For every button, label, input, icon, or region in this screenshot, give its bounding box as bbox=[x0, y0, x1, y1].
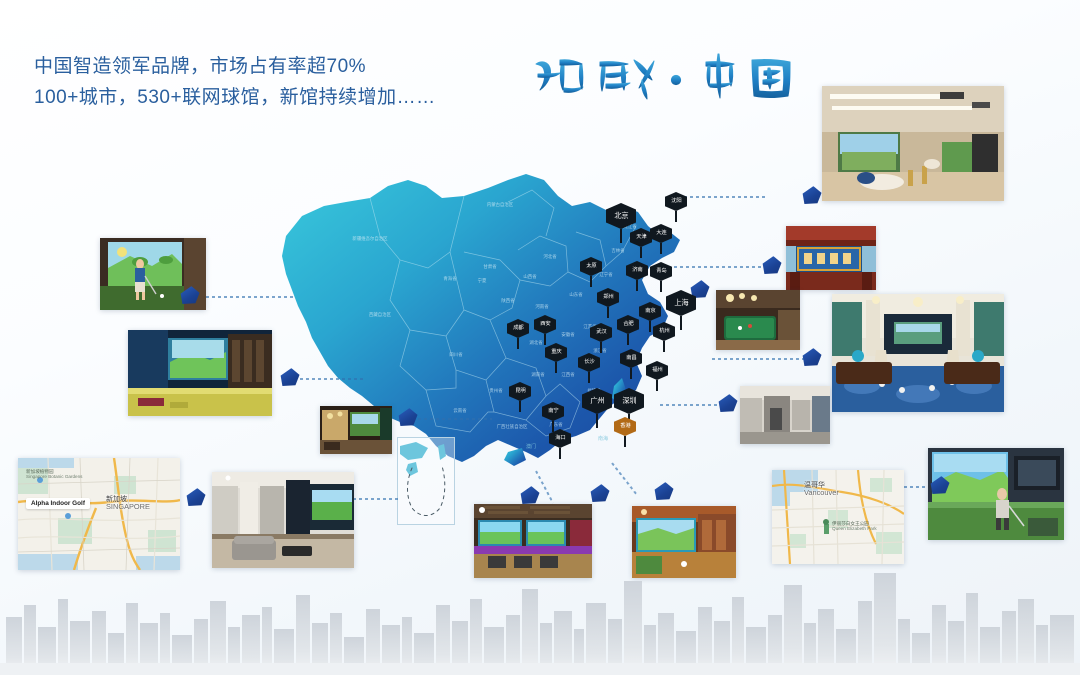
map-pin-武汉[interactable]: 武汉 bbox=[590, 323, 612, 353]
map-pin-label: 重庆 bbox=[551, 350, 561, 355]
map-pin-label: 北京 bbox=[614, 212, 628, 219]
hex-connector bbox=[761, 255, 784, 278]
city-skyline-decoration bbox=[0, 555, 1080, 675]
map-pin-hex-icon: 北京 bbox=[606, 203, 636, 229]
brand-calligraphy-title bbox=[530, 44, 800, 110]
headline-block: 中国智造领军品牌，市场占有率超70% 100+城市，530+联网球馆，新馆持续增… bbox=[34, 52, 436, 114]
map-pin-stem bbox=[590, 276, 591, 287]
svg-text:四川省: 四川省 bbox=[449, 351, 463, 358]
photo-beijing-venue[interactable] bbox=[822, 86, 1004, 201]
photo-blue-hall[interactable] bbox=[128, 330, 272, 416]
map-pin-label: 海口 bbox=[555, 436, 565, 441]
map-pin-hex-icon: 南昌 bbox=[620, 349, 642, 368]
svg-text:南海: 南海 bbox=[598, 435, 608, 442]
photo-temple-sign[interactable] bbox=[786, 226, 876, 290]
map-pin-stem bbox=[624, 436, 625, 447]
map-pin-沈阳[interactable]: 沈阳 bbox=[665, 192, 687, 222]
svg-text:贵州省: 贵州省 bbox=[489, 387, 503, 394]
svg-text:河南省: 河南省 bbox=[535, 303, 549, 310]
map-pin-hex-icon: 南宁 bbox=[542, 402, 564, 421]
minimap-city-en: Vancouver bbox=[804, 489, 839, 497]
svg-text:新疆维吾尔自治区: 新疆维吾尔自治区 bbox=[352, 235, 388, 242]
map-pin-label: 沈阳 bbox=[671, 199, 681, 204]
map-pin-hex-icon: 沈阳 bbox=[665, 192, 687, 211]
map-pin-南宁[interactable]: 南宁 bbox=[542, 402, 564, 432]
map-pin-label: 南宁 bbox=[548, 409, 558, 414]
minimap-vancouver[interactable]: 温哥华 Vancouver 伊丽莎白女王公园 Queen Elizabeth P… bbox=[772, 470, 904, 564]
photo-lounge-room[interactable] bbox=[320, 406, 392, 454]
map-pin-label: 青岛 bbox=[656, 269, 666, 274]
minimap-city-label: 新加坡 SINGAPORE bbox=[106, 496, 150, 511]
slide-canvas: 中国智造领军品牌，市场占有率超70% 100+城市，530+联网球馆，新馆持续增… bbox=[0, 0, 1080, 675]
map-pin-label: 南昌 bbox=[626, 356, 636, 361]
hex-connector bbox=[801, 347, 824, 370]
minimap-venue-pill[interactable]: Alpha Indoor Golf bbox=[26, 498, 90, 509]
map-pin-stem bbox=[517, 338, 518, 349]
map-pin-昆明[interactable]: 昆明 bbox=[509, 382, 531, 412]
map-pin-stem bbox=[596, 414, 598, 428]
map-pin-青岛[interactable]: 青岛 bbox=[650, 262, 672, 292]
svg-text:河北省: 河北省 bbox=[543, 253, 557, 260]
map-pin-label: 合肥 bbox=[623, 322, 633, 327]
svg-text:山西省: 山西省 bbox=[523, 273, 537, 280]
svg-text:云南省: 云南省 bbox=[453, 407, 467, 414]
map-pin-hex-icon: 大连 bbox=[650, 224, 672, 243]
map-pin-stem bbox=[559, 448, 560, 459]
map-pin-label: 杭州 bbox=[659, 329, 669, 334]
map-pin-hex-icon: 西安 bbox=[534, 315, 556, 334]
map-pin-label: 天津 bbox=[636, 235, 646, 240]
svg-text:湖南省: 湖南省 bbox=[531, 371, 545, 378]
photo-corridor[interactable] bbox=[740, 386, 830, 444]
map-pin-重庆[interactable]: 重庆 bbox=[545, 343, 567, 373]
svg-text:吉林省: 吉林省 bbox=[611, 247, 625, 254]
map-pin-hex-icon: 长沙 bbox=[578, 353, 600, 372]
map-pin-香港[interactable]: 香港 bbox=[614, 417, 636, 447]
svg-text:安徽省: 安徽省 bbox=[561, 331, 575, 338]
photo-billiards[interactable] bbox=[716, 290, 800, 350]
south-china-sea-inset bbox=[397, 437, 455, 525]
map-pin-stem bbox=[636, 280, 637, 291]
svg-text:宁夏: 宁夏 bbox=[478, 277, 487, 283]
map-pin-label: 太原 bbox=[586, 264, 596, 269]
map-pin-hex-icon: 广州 bbox=[582, 388, 612, 414]
map-pin-label: 香港 bbox=[620, 424, 630, 429]
map-pin-长沙[interactable]: 长沙 bbox=[578, 353, 600, 383]
map-pin-海口[interactable]: 海口 bbox=[549, 429, 571, 459]
map-pin-stem bbox=[656, 380, 657, 391]
map-pin-hex-icon: 合肥 bbox=[617, 315, 639, 334]
map-pin-hex-icon: 福州 bbox=[646, 361, 668, 380]
map-pin-stem bbox=[663, 341, 664, 352]
map-pin-stem bbox=[675, 211, 676, 222]
minimap-poi-en: Singapore Botanic Gardens bbox=[26, 475, 82, 480]
svg-text:陕西省: 陕西省 bbox=[501, 297, 515, 304]
connector-line bbox=[660, 404, 720, 406]
map-pin-stem bbox=[607, 307, 608, 318]
map-pin-stem bbox=[519, 401, 520, 412]
map-pin-hex-icon: 深圳 bbox=[614, 388, 644, 414]
svg-text:青海省: 青海省 bbox=[443, 275, 457, 282]
map-pin-hex-icon: 郑州 bbox=[597, 288, 619, 307]
photo-vancouver-venue[interactable] bbox=[928, 448, 1064, 540]
map-pin-label: 昆明 bbox=[515, 389, 525, 394]
map-pin-福州[interactable]: 福州 bbox=[646, 361, 668, 391]
connector-line bbox=[668, 266, 764, 268]
map-pin-合肥[interactable]: 合肥 bbox=[617, 315, 639, 345]
map-pin-label: 上海 bbox=[674, 299, 688, 306]
svg-text:广西壮族自治区: 广西壮族自治区 bbox=[497, 423, 528, 430]
map-pin-南昌[interactable]: 南昌 bbox=[620, 349, 642, 379]
svg-text:澳门: 澳门 bbox=[526, 443, 536, 450]
map-pin-大连[interactable]: 大连 bbox=[650, 224, 672, 254]
map-pin-杭州[interactable]: 杭州 bbox=[653, 322, 675, 352]
map-pin-label: 济南 bbox=[632, 268, 642, 273]
map-pin-济南[interactable]: 济南 bbox=[626, 261, 648, 291]
map-pin-label: 西安 bbox=[540, 322, 550, 327]
photo-luxury-hall[interactable] bbox=[832, 294, 1004, 412]
headline-line-2: 100+城市，530+联网球馆，新馆持续增加…… bbox=[34, 83, 436, 114]
map-pin-成都[interactable]: 成都 bbox=[507, 319, 529, 349]
map-pin-label: 武汉 bbox=[596, 330, 606, 335]
map-pin-stem bbox=[630, 368, 631, 379]
map-pin-stem bbox=[680, 316, 682, 330]
map-pin-label: 大连 bbox=[656, 231, 666, 236]
map-pin-hex-icon: 济南 bbox=[626, 261, 648, 280]
minimap-city-en: SINGAPORE bbox=[106, 503, 150, 511]
connector-line bbox=[200, 296, 296, 298]
svg-text:内蒙古自治区: 内蒙古自治区 bbox=[487, 201, 514, 208]
map-pin-stem bbox=[660, 243, 661, 254]
map-pin-stem bbox=[600, 342, 601, 353]
svg-text:甘肃省: 甘肃省 bbox=[483, 263, 497, 270]
map-pin-stem bbox=[620, 229, 622, 243]
connector-line bbox=[300, 378, 364, 380]
map-pin-hex-icon: 海口 bbox=[549, 429, 571, 448]
photo-grey-lounge[interactable] bbox=[212, 472, 354, 568]
svg-text:西藏自治区: 西藏自治区 bbox=[369, 311, 392, 318]
map-pin-hex-icon: 成都 bbox=[507, 319, 529, 338]
minimap-singapore[interactable]: Alpha Indoor Golf 新加坡 SINGAPORE 新加坡植物园 S… bbox=[18, 458, 180, 570]
map-pin-label: 深圳 bbox=[622, 397, 636, 404]
headline-line-1: 中国智造领军品牌，市场占有率超70% bbox=[34, 52, 436, 83]
map-pin-label: 郑州 bbox=[603, 295, 613, 300]
map-pin-天津[interactable]: 天津 bbox=[630, 228, 652, 258]
minimap-city-label: 温哥华 Vancouver bbox=[804, 482, 839, 497]
map-pin-hex-icon: 上海 bbox=[666, 290, 696, 316]
map-pin-stem bbox=[660, 281, 661, 292]
map-pin-hex-icon: 香港 bbox=[614, 417, 636, 436]
connector-line bbox=[418, 418, 492, 420]
map-pin-label: 南京 bbox=[645, 309, 655, 314]
map-pin-stem bbox=[627, 334, 628, 345]
connector-line bbox=[712, 358, 804, 360]
map-pin-hex-icon: 青岛 bbox=[650, 262, 672, 281]
minimap-poi-label: 伊丽莎白女王公园 Queen Elizabeth Park bbox=[832, 522, 877, 532]
map-pin-stem bbox=[640, 247, 641, 258]
map-pin-hex-icon: 杭州 bbox=[653, 322, 675, 341]
map-pin-郑州[interactable]: 郑州 bbox=[597, 288, 619, 318]
map-pin-hex-icon: 太原 bbox=[580, 257, 602, 276]
map-pin-label: 广州 bbox=[590, 397, 604, 404]
map-pin-广州[interactable]: 广州 bbox=[582, 388, 612, 428]
map-pin-hex-icon: 武汉 bbox=[590, 323, 612, 342]
map-pin-label: 长沙 bbox=[584, 360, 594, 365]
hex-connector bbox=[185, 487, 208, 510]
map-pin-stem bbox=[555, 362, 556, 373]
minimap-poi-en: Queen Elizabeth Park bbox=[832, 527, 877, 532]
map-pin-label: 成都 bbox=[513, 326, 523, 331]
hex-connector bbox=[801, 185, 824, 208]
map-pin-label: 福州 bbox=[652, 368, 662, 373]
map-pin-stem bbox=[588, 372, 589, 383]
minimap-poi-label: 新加坡植物园 Singapore Botanic Gardens bbox=[26, 470, 82, 480]
svg-text:山东省: 山东省 bbox=[569, 291, 583, 298]
map-pin-hex-icon: 昆明 bbox=[509, 382, 531, 401]
map-pin-太原[interactable]: 太原 bbox=[580, 257, 602, 287]
map-pin-hex-icon: 天津 bbox=[630, 228, 652, 247]
map-pin-hex-icon: 南京 bbox=[639, 302, 661, 321]
map-pin-stem bbox=[649, 321, 650, 332]
map-pin-hex-icon: 重庆 bbox=[545, 343, 567, 362]
map-pin-西安[interactable]: 西安 bbox=[534, 315, 556, 345]
